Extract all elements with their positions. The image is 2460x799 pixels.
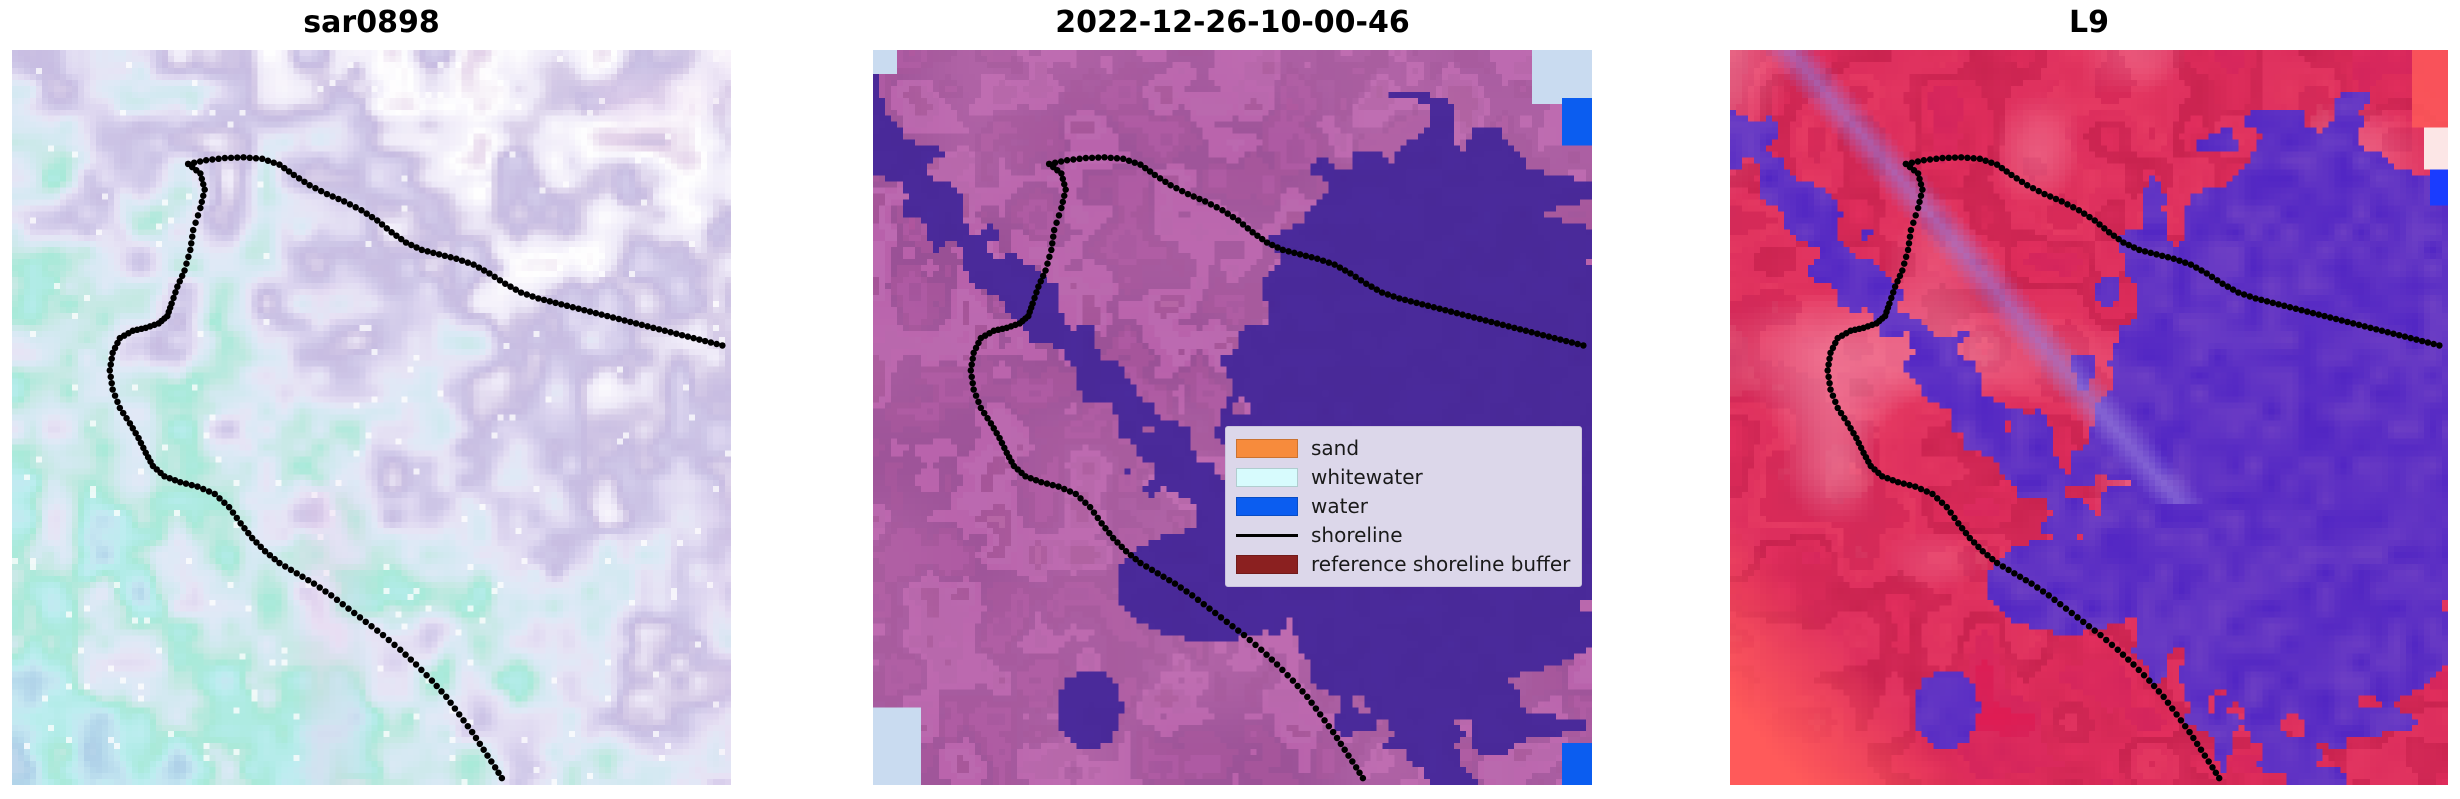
swatch-shape xyxy=(1236,555,1298,574)
legend-swatch-water-icon xyxy=(1236,497,1298,516)
legend-label: shoreline xyxy=(1311,524,1403,546)
legend-label: sand xyxy=(1311,437,1359,459)
panel-sar-axes xyxy=(12,50,731,785)
legend-item-reference-shoreline-buffer: reference shoreline buffer xyxy=(1236,550,1571,578)
panel-sar-title: sar0898 xyxy=(12,6,731,40)
panel-rgb-shoreline xyxy=(1730,50,2448,785)
panel-classification: 2022-12-26-10-00-46 xyxy=(873,50,1592,785)
legend: sandwhitewaterwatershorelinereference sh… xyxy=(1225,426,1582,587)
legend-item-shoreline: shoreline xyxy=(1236,521,1571,549)
swatch-shape xyxy=(1236,468,1298,487)
panel-rgb: L9 xyxy=(1730,50,2448,785)
legend-label: water xyxy=(1311,495,1368,517)
legend-item-sand: sand xyxy=(1236,434,1571,462)
swatch-shape xyxy=(1236,497,1298,516)
panel-rgb-title: L9 xyxy=(1730,6,2448,40)
panel-classification-title: 2022-12-26-10-00-46 xyxy=(873,6,1592,40)
legend-swatch-shoreline-icon xyxy=(1236,526,1298,545)
swatch-shape xyxy=(1236,439,1298,458)
legend-swatch-sand-icon xyxy=(1236,439,1298,458)
legend-swatch-reference-shoreline-buffer-icon xyxy=(1236,555,1298,574)
figure-root: sar0898 2022-12-26-10-00-46 L9 sandwhite… xyxy=(0,0,2460,799)
panel-rgb-axes xyxy=(1730,50,2448,785)
panel-classification-axes xyxy=(873,50,1592,785)
legend-swatch-whitewater-icon xyxy=(1236,468,1298,487)
panel-sar: sar0898 xyxy=(12,50,731,785)
swatch-shape xyxy=(1236,534,1298,537)
panel-classification-shoreline xyxy=(873,50,1592,785)
legend-item-whitewater: whitewater xyxy=(1236,463,1571,491)
legend-label: whitewater xyxy=(1311,466,1423,488)
legend-item-water: water xyxy=(1236,492,1571,520)
legend-label: reference shoreline buffer xyxy=(1311,553,1570,575)
panel-sar-shoreline xyxy=(12,50,731,785)
